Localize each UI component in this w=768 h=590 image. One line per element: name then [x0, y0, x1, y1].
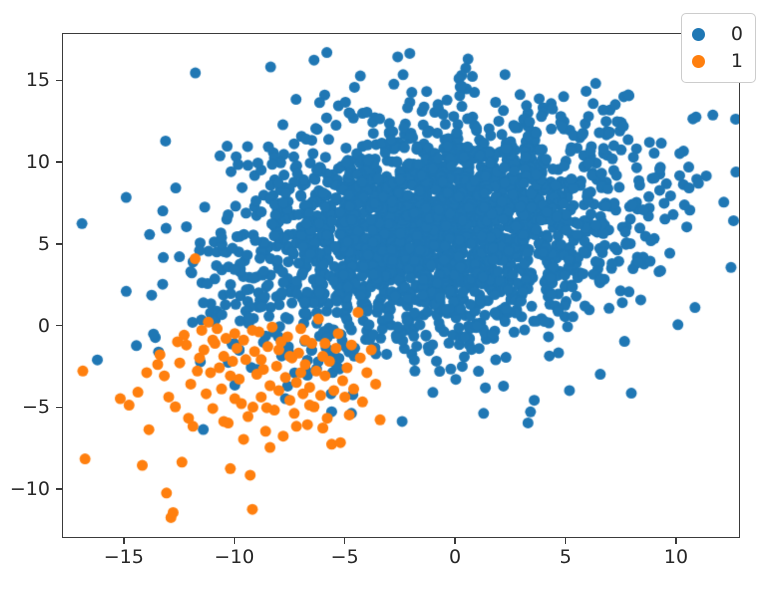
plot-axes-area: [62, 33, 740, 538]
legend-label-1: 1: [731, 52, 743, 71]
scatter-figure: −15−10−50510 −10−5051015 0 1: [0, 0, 768, 590]
x-tick-label: 10: [631, 546, 721, 568]
legend-marker-0: [692, 28, 705, 41]
x-tick-mark: [675, 538, 676, 544]
x-tick-mark: [344, 538, 345, 544]
x-tick-mark: [454, 538, 455, 544]
y-tick-mark: [56, 407, 62, 408]
scatter-points-canvas: [63, 34, 739, 537]
legend-label-0: 0: [731, 25, 743, 44]
x-tick-mark: [234, 538, 235, 544]
x-tick-label: 5: [521, 546, 611, 568]
y-tick-label: −5: [0, 396, 50, 418]
x-tick-label: −10: [189, 546, 279, 568]
legend-entry-1[interactable]: 1: [692, 48, 743, 75]
x-tick-label: −5: [300, 546, 390, 568]
y-tick-mark: [56, 488, 62, 489]
y-tick-label: 5: [0, 233, 50, 255]
y-tick-label: 10: [0, 151, 50, 173]
y-tick-mark: [56, 243, 62, 244]
y-tick-mark: [56, 161, 62, 162]
y-tick-label: −10: [0, 478, 50, 500]
legend: 0 1: [681, 13, 756, 83]
legend-entry-0[interactable]: 0: [692, 21, 743, 48]
legend-marker-1: [692, 55, 705, 68]
y-tick-mark: [56, 325, 62, 326]
x-tick-label: −15: [79, 546, 169, 568]
y-tick-mark: [56, 80, 62, 81]
y-tick-label: 0: [0, 315, 50, 337]
y-tick-label: 15: [0, 69, 50, 91]
x-tick-mark: [565, 538, 566, 544]
x-tick-label: 0: [410, 546, 500, 568]
x-tick-mark: [123, 538, 124, 544]
